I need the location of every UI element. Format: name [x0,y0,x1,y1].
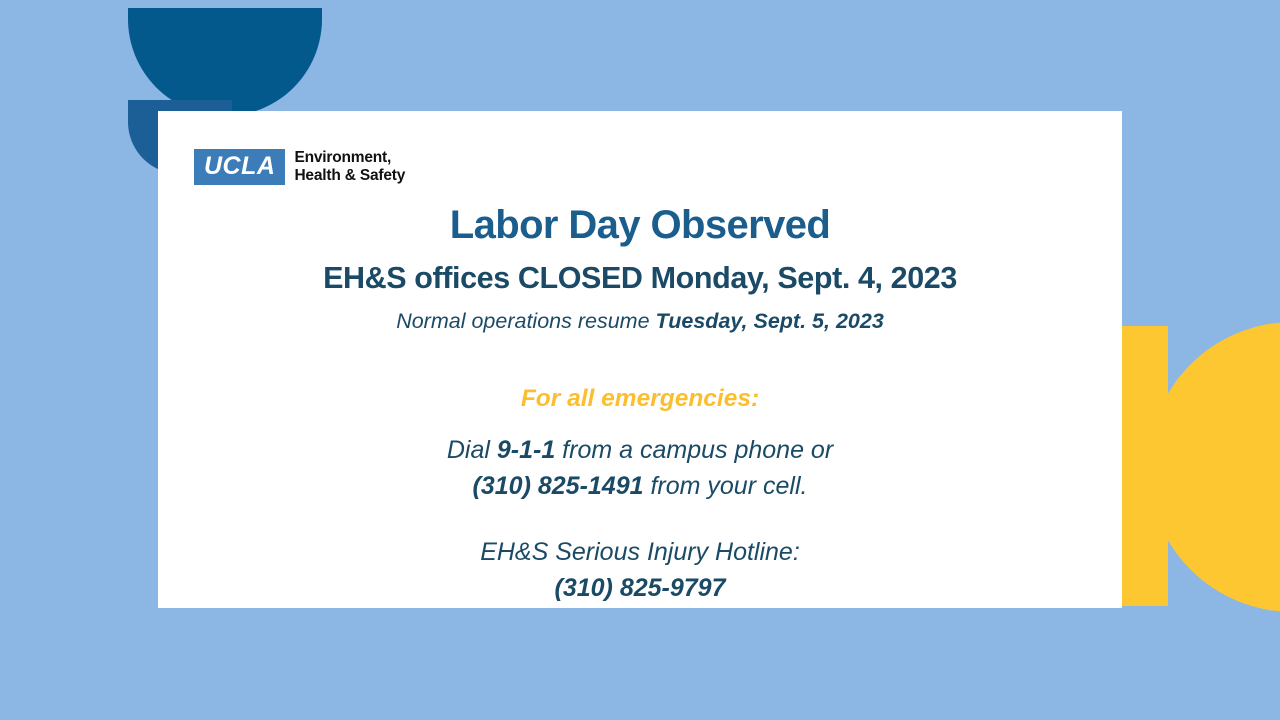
emergency-number-911: 9-1-1 [497,436,555,464]
emergency-dial-line-2: (310) 825-1491 from your cell. [158,469,1122,505]
page-title: Labor Day Observed [158,203,1122,247]
resume-prefix: Normal operations resume [396,309,655,333]
emergency-dial-line-1: Dial 9-1-1 from a campus phone or [158,433,1122,469]
closure-subtitle: EH&S offices CLOSED Monday, Sept. 4, 202… [158,261,1122,296]
resume-notice: Normal operations resume Tuesday, Sept. … [158,309,1122,335]
dial-prefix: Dial [447,436,497,464]
cell-suffix: from your cell. [644,472,808,500]
content-card: UCLA Environment, Health & Safety Labor … [158,111,1122,608]
ehs-department-name: Environment, Health & Safety [294,149,405,186]
announcement-graphic: UCLA Environment, Health & Safety Labor … [0,0,1280,720]
ucla-ehs-logo: UCLA Environment, Health & Safety [194,149,405,186]
hotline-label: EH&S Serious Injury Hotline: [158,535,1122,571]
resume-date: Tuesday, Sept. 5, 2023 [656,309,884,333]
logo-line-1: Environment, [294,149,405,167]
dial-suffix: from a campus phone or [555,436,833,464]
emergency-number-cell: (310) 825-1491 [473,472,644,500]
logo-line-2: Health & Safety [294,167,405,185]
hotline-number-line: (310) 825-9797 [158,571,1122,607]
hotline-number: (310) 825-9797 [555,574,726,602]
hotline-block: EH&S Serious Injury Hotline: (310) 825-9… [158,535,1122,606]
emergency-dial-block: Dial 9-1-1 from a campus phone or (310) … [158,433,1122,504]
emergency-heading: For all emergencies: [158,384,1122,413]
ucla-wordmark: UCLA [194,149,285,185]
announcement-text: Labor Day Observed EH&S offices CLOSED M… [158,203,1122,606]
